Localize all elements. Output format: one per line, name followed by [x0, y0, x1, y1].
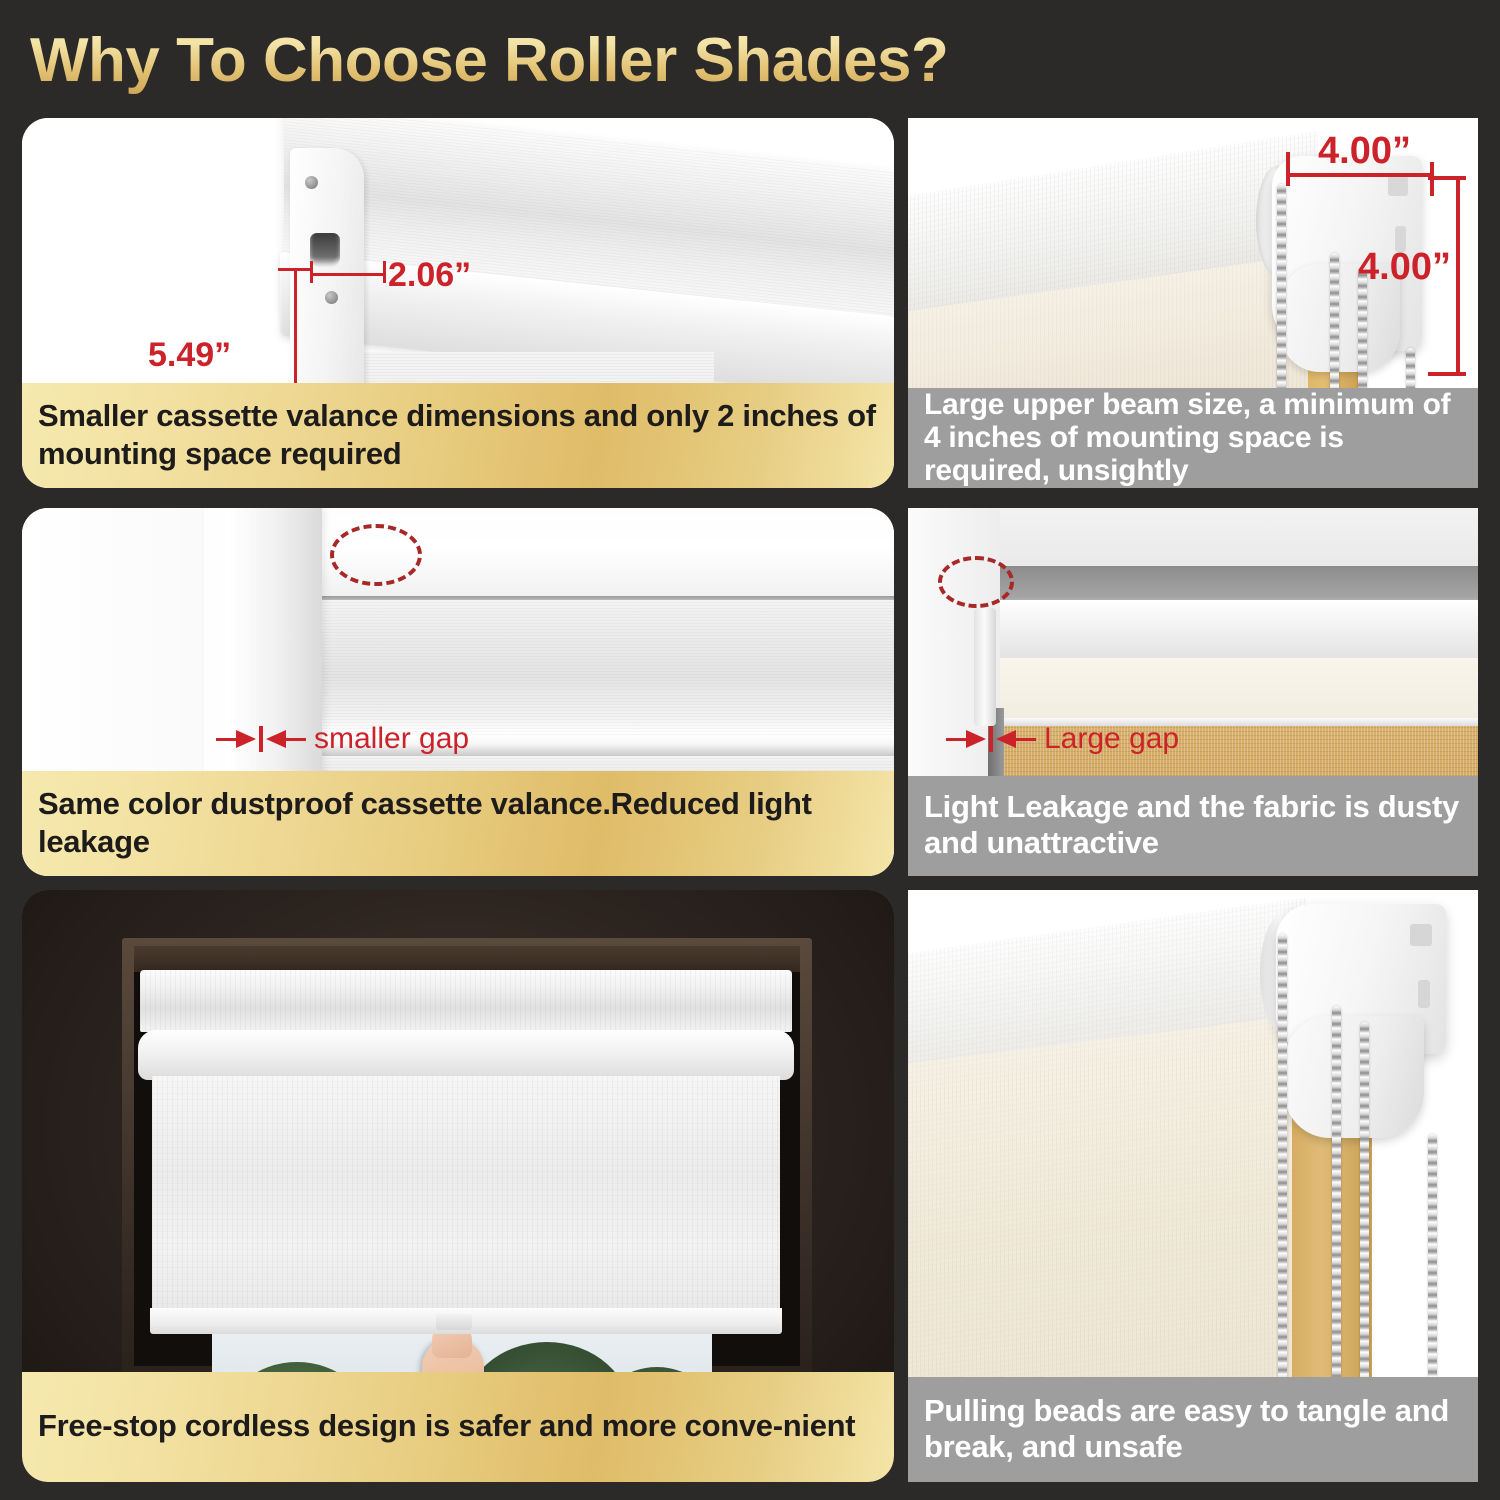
arrow-left-icon — [996, 730, 1016, 748]
window-header-trim — [134, 946, 800, 972]
arrow-stem — [1016, 738, 1036, 741]
panel-1-caption: Smaller cassette valance dimensions and … — [22, 383, 894, 488]
large-gap-annotation: Large gap — [946, 722, 1179, 756]
arrow-right-icon — [236, 730, 256, 748]
height-dimension-label: 4.00” — [1358, 246, 1451, 289]
smaller-gap-label: smaller gap — [314, 722, 469, 756]
width-dimension-tick-left — [310, 261, 313, 283]
panel-cordless-design: Free-stop cordless design is safer and m… — [22, 890, 894, 1482]
large-gap-label: Large gap — [1044, 722, 1179, 756]
width-dimension-tick-left — [1286, 152, 1290, 186]
panel-3-caption: Same color dustproof cassette valance.Re… — [22, 771, 894, 876]
width-dimension-line — [310, 273, 386, 276]
bracket-slot — [310, 233, 340, 267]
bracket-notch — [1388, 176, 1408, 196]
width-dimension-line — [1288, 173, 1434, 177]
panel-smaller-cassette: 5.49” 2.06” Smaller cassette valance dim… — [22, 118, 894, 488]
height-dimension-tick-bottom — [1428, 372, 1466, 376]
bracket-notch — [1410, 924, 1432, 946]
screw-icon — [325, 291, 338, 304]
panel-pulling-beads: Pulling beads are easy to tangle and bre… — [908, 890, 1478, 1482]
smaller-gap-annotation: smaller gap — [216, 722, 469, 756]
panel-6-caption: Pulling beads are easy to tangle and bre… — [908, 1377, 1478, 1482]
panel-1-caption-text: Smaller cassette valance dimensions and … — [38, 397, 878, 473]
height-dimension-tick-top — [278, 268, 312, 271]
cassette-valance — [140, 970, 792, 1032]
width-dimension-label: 2.06” — [388, 256, 471, 295]
arrow-right-icon — [966, 730, 986, 748]
width-dimension-label: 4.00” — [1318, 130, 1411, 173]
gap-tick — [989, 726, 993, 752]
shade-fabric — [152, 1076, 780, 1322]
panel-6-caption-text: Pulling beads are easy to tangle and bre… — [924, 1393, 1462, 1465]
screw-icon — [305, 176, 318, 189]
panel-dustproof-valance: Same color dustproof cassette valance.Re… — [22, 508, 894, 876]
mounting-bracket-lower — [1284, 1016, 1424, 1138]
panel-3-caption-text: Same color dustproof cassette valance.Re… — [38, 785, 878, 861]
panel-large-upper-beam: 4.00” 4.00” Large upper beam size, a min… — [908, 118, 1478, 488]
infographic-root: Why To Choose Roller Shades? 5.49” 2.06”… — [0, 0, 1500, 1500]
page-title: Why To Choose Roller Shades? — [30, 22, 1130, 100]
panel-4-caption: Light Leakage and the fabric is dusty an… — [908, 776, 1478, 876]
side-bracket — [974, 608, 996, 726]
gap-tick — [259, 726, 263, 752]
height-dimension-tick-top — [1428, 176, 1466, 180]
pull-tab — [436, 1314, 472, 1330]
cream-fabric-roll — [992, 658, 1478, 726]
arrow-stem — [216, 738, 236, 741]
arrow-left-icon — [266, 730, 286, 748]
arrow-stem — [946, 738, 966, 741]
valance-lip — [138, 1030, 794, 1080]
bracket-notch — [1418, 980, 1430, 1008]
highlight-ellipse-icon — [938, 556, 1014, 608]
height-dimension-line — [1456, 176, 1460, 376]
height-dimension-label: 5.49” — [148, 336, 231, 375]
panel-4-caption-text: Light Leakage and the fabric is dusty an… — [924, 789, 1462, 861]
highlight-ellipse-icon — [330, 524, 422, 586]
panel-2-caption: Large upper beam size, a minimum of 4 in… — [908, 388, 1478, 488]
arrow-stem — [286, 738, 306, 741]
panel-2-caption-text: Large upper beam size, a minimum of 4 in… — [924, 388, 1462, 487]
panel-5-caption: Free-stop cordless design is safer and m… — [22, 1372, 894, 1482]
panel-5-caption-text: Free-stop cordless design is safer and m… — [38, 1406, 878, 1446]
width-dimension-tick-right — [383, 261, 386, 283]
